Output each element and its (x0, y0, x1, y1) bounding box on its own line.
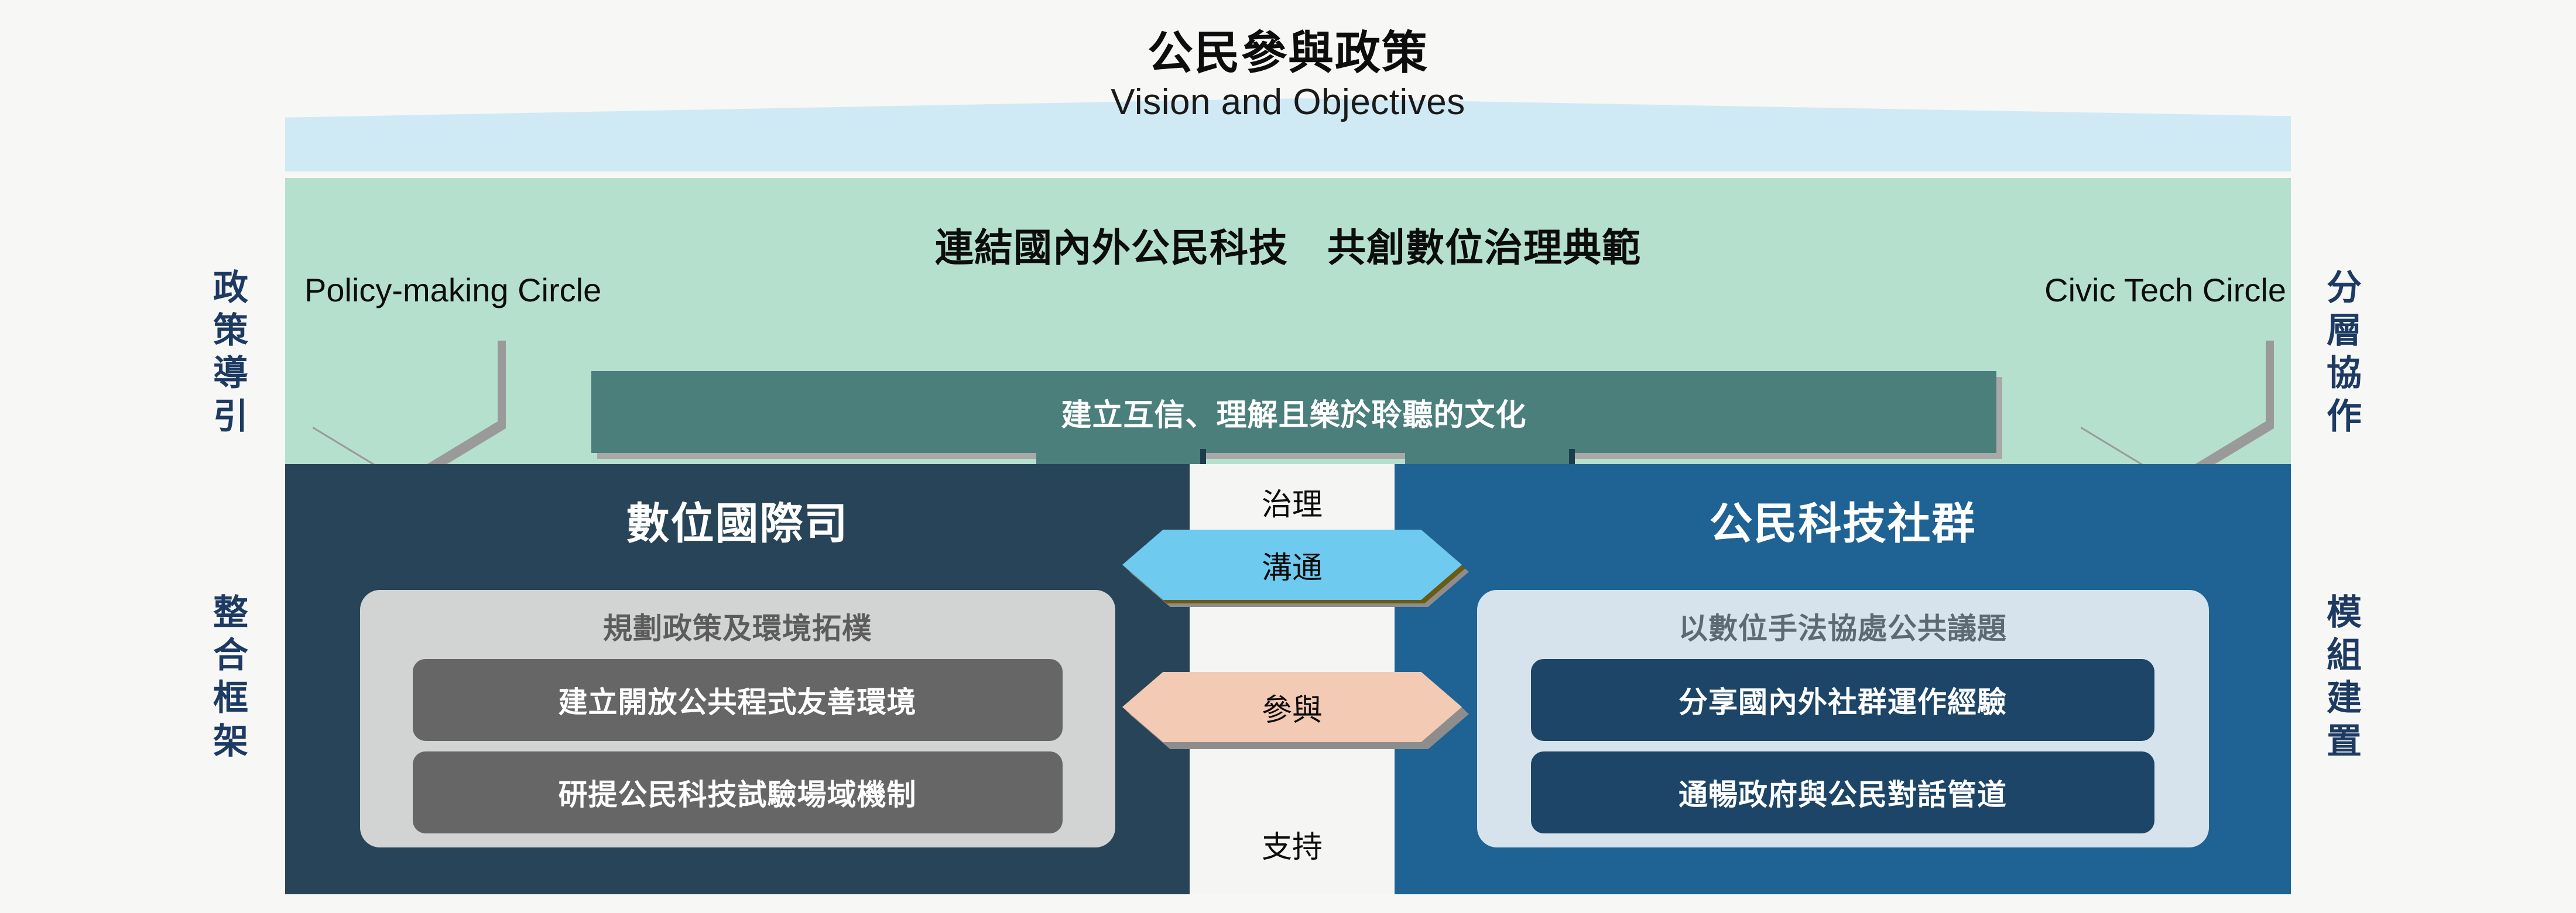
side-char: 政 (193, 266, 269, 309)
side-char: 架 (193, 720, 269, 763)
side-char: 整 (193, 591, 269, 634)
green-chevron-down-icon-left (304, 334, 498, 480)
side-label-right-top: 分 層 協 作 (2307, 266, 2383, 438)
infographic-canvas: 公民參與政策 Vision and Objectives 連結國內外公民科技 共… (0, 0, 2576, 913)
green-chevron-down-icon-right (2073, 334, 2266, 480)
civic-tech-circle-label: Civic Tech Circle (2044, 271, 2286, 309)
side-char: 組 (2307, 634, 2383, 677)
policy-making-circle-label: Policy-making Circle (304, 271, 601, 309)
side-char: 框 (193, 677, 269, 719)
side-char: 建 (2307, 677, 2383, 719)
center-word-support: 支持 (1190, 822, 1395, 866)
right-pill-item-1[interactable]: 分享國內外社群運作經驗 (1531, 659, 2154, 741)
side-char: 導 (193, 352, 269, 394)
side-label-right-bottom: 模 組 建 置 (2307, 591, 2383, 763)
strategy-headline: 連結國內外公民科技 共創數位治理典範 (285, 217, 2291, 273)
side-label-left-bottom: 整 合 框 架 (193, 591, 269, 763)
side-char: 作 (2307, 395, 2383, 438)
left-panel-policy: 數位國際司 規劃政策及環境拓樸 建立開放公共程式友善環境 研提公民科技試驗場域機… (285, 464, 1190, 894)
hexagon-communication[interactable]: 溝通 (1122, 530, 1462, 600)
left-panel-title: 數位國際司 (285, 489, 1190, 551)
side-char: 置 (2307, 720, 2383, 763)
right-panel-card: 以數位手法協處公共議題 分享國內外社群運作經驗 通暢政府與公民對話管道 (1477, 590, 2209, 847)
center-word-governance: 治理 (1190, 480, 1395, 524)
side-char: 合 (193, 634, 269, 677)
side-char: 協 (2307, 352, 2383, 394)
side-char: 引 (193, 395, 269, 438)
side-char: 層 (2307, 309, 2383, 352)
left-pill-item-1[interactable]: 建立開放公共程式友善環境 (413, 659, 1063, 741)
left-card-heading: 規劃政策及環境拓樸 (383, 605, 1092, 647)
right-panel-community: 公民科技社群 以數位手法協處公共議題 分享國內外社群運作經驗 通暢政府與公民對話… (1395, 464, 2291, 894)
right-panel-title: 公民科技社群 (1395, 489, 2291, 551)
side-char: 策 (193, 309, 269, 352)
left-pill-item-2[interactable]: 研提公民科技試驗場域機制 (413, 751, 1063, 833)
side-label-left-top: 政 策 導 引 (193, 266, 269, 438)
side-char: 模 (2307, 591, 2383, 634)
hexagon-communication-label: 溝通 (1122, 530, 1462, 600)
hexagon-participation-label: 參與 (1122, 672, 1462, 742)
culture-bar-text: 建立互信、理解且樂於聆聽的文化 (591, 371, 1996, 453)
page-title: 公民參與政策 (1147, 28, 1429, 77)
right-pill-item-2[interactable]: 通暢政府與公民對話管道 (1531, 751, 2154, 833)
right-card-heading: 以數位手法協處公共議題 (1501, 605, 2186, 647)
vision-subtitle: Vision and Objectives (1111, 82, 1465, 122)
left-panel-card: 規劃政策及環境拓樸 建立開放公共程式友善環境 研提公民科技試驗場域機制 (360, 590, 1115, 847)
hexagon-participation[interactable]: 參與 (1122, 672, 1462, 742)
vision-block: 公民參與政策 Vision and Objectives (285, 23, 2291, 170)
side-char: 分 (2307, 266, 2383, 309)
